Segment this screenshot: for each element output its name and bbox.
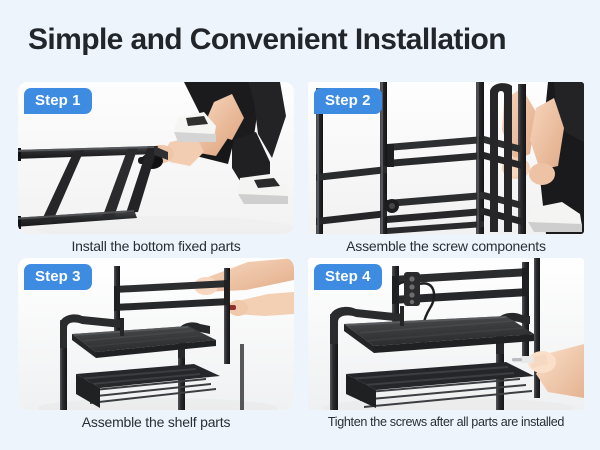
step-badge: Step 4 bbox=[314, 264, 382, 290]
page-title: Simple and Convenient Installation bbox=[28, 22, 506, 58]
step-caption: Install the bottom fixed parts bbox=[18, 234, 294, 258]
step-cell-2: Step 2 Assemble the screw components bbox=[308, 82, 584, 258]
installation-steps-grid: Step 1 Install the bottom fixed parts bbox=[18, 82, 584, 434]
step-caption: Tighten the screws after all parts are i… bbox=[308, 410, 584, 434]
step-cell-4: Step 4 Tighten the screws after all part… bbox=[308, 258, 584, 434]
step-badge: Step 1 bbox=[24, 88, 92, 114]
step-cell-1: Step 1 Install the bottom fixed parts bbox=[18, 82, 294, 258]
step-badge: Step 2 bbox=[314, 88, 382, 114]
step-caption: Assemble the screw components bbox=[308, 234, 584, 258]
step-caption: Assemble the shelf parts bbox=[18, 410, 294, 434]
step-cell-3: Step 3 Assemble the shelf parts bbox=[18, 258, 294, 434]
step-badge: Step 3 bbox=[24, 264, 92, 290]
